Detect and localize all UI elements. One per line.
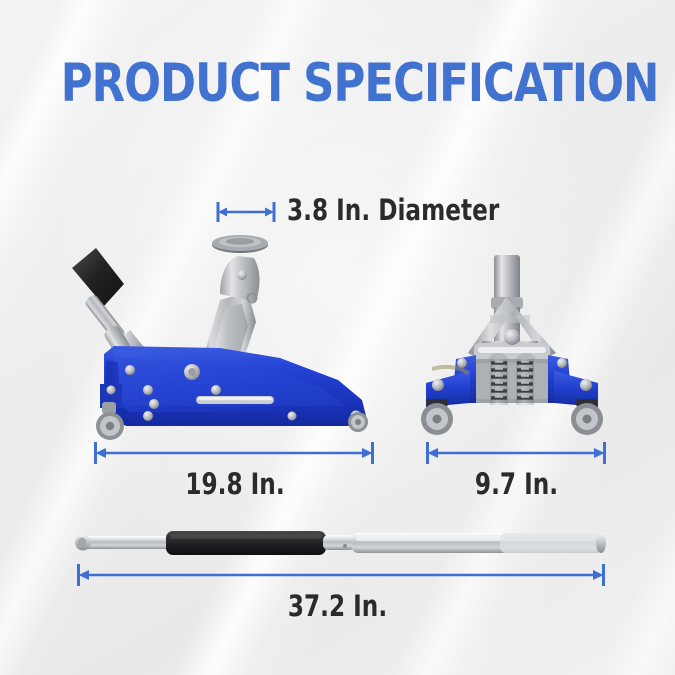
floor-jack-front-view xyxy=(412,255,612,445)
lift-saddle xyxy=(212,235,268,253)
caster-wheel-rear xyxy=(348,412,368,432)
dimension-arrow-diameter xyxy=(214,200,278,224)
dimension-label-handle: 37.2 In. xyxy=(68,592,608,621)
dimension-arrow-length xyxy=(92,441,376,465)
dimension-arrow-handle xyxy=(75,563,607,587)
floor-jack-side-view xyxy=(70,230,390,445)
page-title: PRODUCT SPECIFICATION xyxy=(61,57,615,110)
dimension-label-width: 9.7 In. xyxy=(427,470,607,499)
dimension-label-diameter: 3.8 In. Diameter xyxy=(287,196,499,225)
jack-handle xyxy=(68,528,613,562)
dimension-label-length: 19.8 In. xyxy=(47,470,423,499)
dimension-arrow-width xyxy=(424,441,608,465)
jack-chassis xyxy=(100,346,366,426)
product-specification-page: PRODUCT SPECIFICATION xyxy=(0,0,675,675)
